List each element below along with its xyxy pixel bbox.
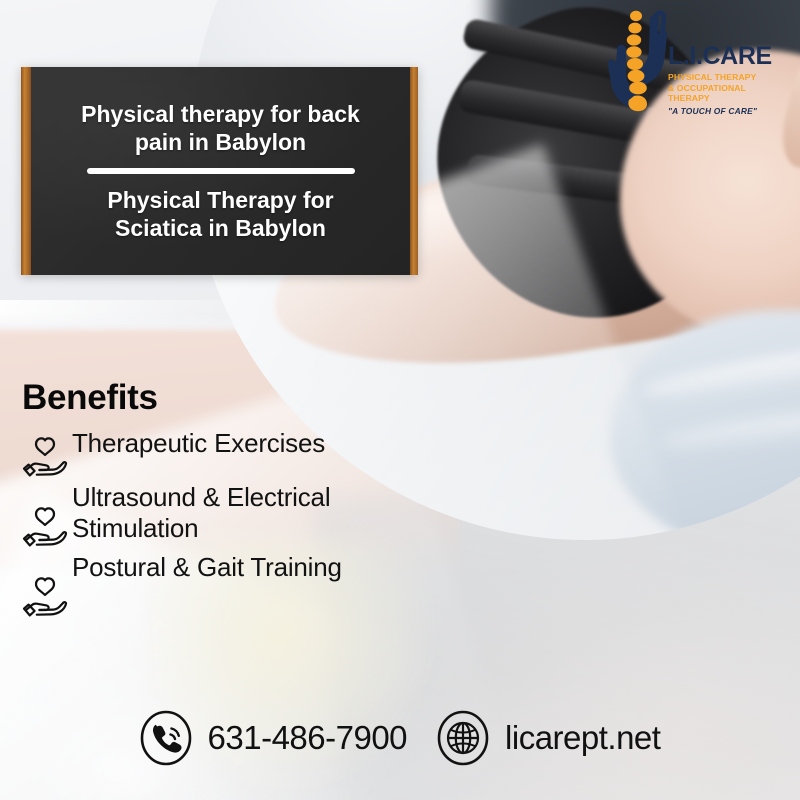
logo-subtitle-line2: & OCCUPATIONAL THERAPY	[668, 83, 784, 104]
logo-name: L.I.CARE	[668, 44, 784, 69]
benefits-heading: Benefits	[22, 378, 452, 418]
title-divider	[87, 168, 355, 174]
logo-subtitle-line1: PHYSICAL THERAPY	[668, 72, 784, 83]
benefits-section: Benefits Therapeutic Exercises	[22, 378, 452, 624]
globe-icon	[437, 710, 489, 766]
website-contact[interactable]: licarept.net	[437, 710, 660, 766]
phone-number: 631-486-7900	[208, 719, 408, 757]
phone-contact[interactable]: 631-486-7900	[140, 710, 408, 766]
benefit-label: Ultrasound & Electrical Stimulation	[68, 482, 452, 543]
benefit-label: Postural & Gait Training	[68, 552, 342, 583]
benefit-label: Therapeutic Exercises	[68, 428, 325, 459]
hand-holding-heart-icon	[22, 434, 68, 482]
hand-holding-heart-icon	[22, 574, 68, 622]
promo-poster: Physical therapy for back pain in Babylo…	[0, 0, 800, 800]
logo-tagline: "A TOUCH OF CARE"	[668, 106, 784, 116]
phone-call-icon	[140, 710, 192, 766]
brand-logo: L.I.CARE PHYSICAL THERAPY & OCCUPATIONAL…	[604, 8, 784, 136]
title-card: Physical therapy for back pain in Babylo…	[21, 67, 418, 275]
benefit-item: Postural & Gait Training	[22, 552, 452, 622]
benefit-item: Ultrasound & Electrical Stimulation	[22, 482, 452, 552]
hand-holding-heart-icon	[22, 504, 68, 552]
benefit-item: Therapeutic Exercises	[22, 428, 452, 482]
headline-secondary: Physical Therapy for Sciatica in Babylon	[31, 186, 410, 242]
logo-wordmark: L.I.CARE PHYSICAL THERAPY & OCCUPATIONAL…	[668, 44, 784, 116]
spine-in-hands-logo-icon	[604, 8, 676, 112]
headline-primary: Physical therapy for back pain in Babylo…	[31, 100, 410, 156]
contact-bar: 631-486-7900 licarept.net	[0, 704, 800, 772]
website-url: licarept.net	[505, 719, 660, 757]
